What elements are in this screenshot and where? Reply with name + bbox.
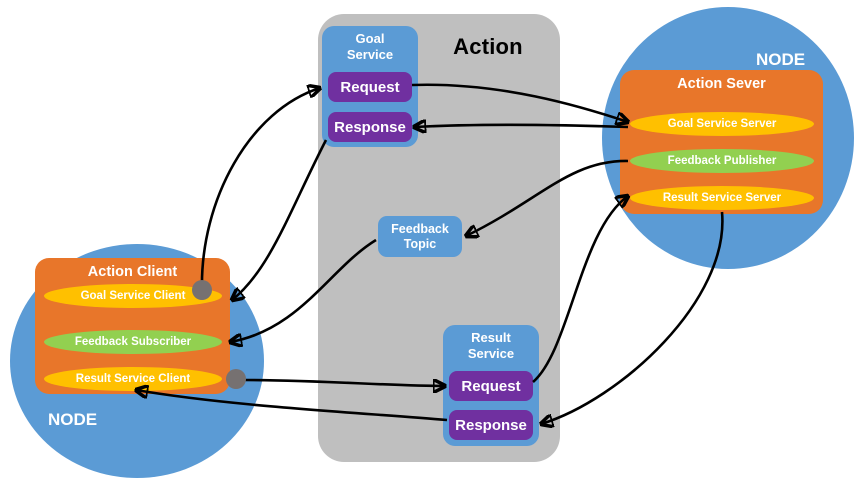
result-service-server-pill[interactable]: Result Service Server xyxy=(630,186,814,210)
goal-service-client-pill[interactable]: Goal Service Client xyxy=(44,284,222,308)
goal-service-title-line2: Service xyxy=(322,47,418,63)
goal-response-box[interactable]: Response xyxy=(328,112,412,142)
diagram-canvas: Action NODE Action Sever Goal Service Se… xyxy=(0,0,854,480)
result-service-title: Result Service xyxy=(443,330,539,362)
result-service-title-line1: Result xyxy=(443,330,539,346)
result-request-box[interactable]: Request xyxy=(449,371,533,401)
goal-service-server-pill[interactable]: Goal Service Server xyxy=(630,112,814,136)
action-client-title: Action Client xyxy=(35,264,230,280)
result-service-title-line2: Service xyxy=(443,346,539,362)
feedback-publisher-pill[interactable]: Feedback Publisher xyxy=(630,149,814,173)
result-response-box[interactable]: Response xyxy=(449,410,533,440)
feedback-topic-title-line2: Topic xyxy=(404,237,436,252)
node-label-server: NODE xyxy=(756,50,805,70)
feedback-subscriber-pill[interactable]: Feedback Subscriber xyxy=(44,330,222,354)
connector-goalresponse-to-goalclient xyxy=(232,140,326,300)
node-label-client: NODE xyxy=(48,410,97,430)
goal-request-box[interactable]: Request xyxy=(328,72,412,102)
action-server-title: Action Sever xyxy=(620,76,823,92)
result-service-client-pill[interactable]: Result Service Client xyxy=(44,367,222,391)
action-title: Action xyxy=(428,34,548,60)
goal-service-title: Goal Service xyxy=(322,31,418,63)
goal-service-title-line1: Goal xyxy=(322,31,418,47)
feedback-topic-title-line1: Feedback xyxy=(391,222,449,237)
feedback-topic-box[interactable]: Feedback Topic xyxy=(378,216,462,257)
